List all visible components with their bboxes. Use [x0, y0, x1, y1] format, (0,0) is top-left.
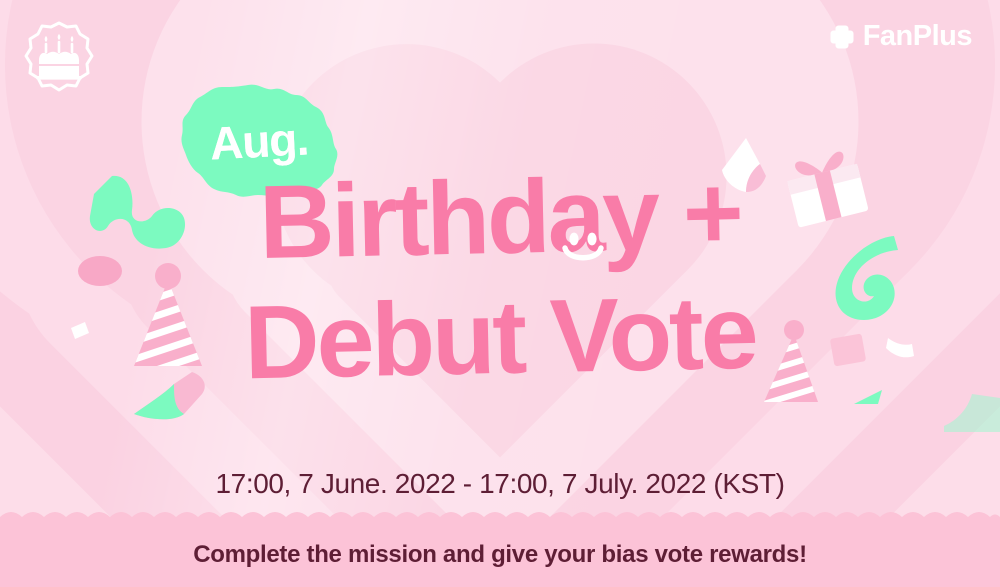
headline-line-2: Debut Vote — [0, 277, 1000, 400]
fanplus-plus-icon — [829, 24, 855, 50]
footer-text: Complete the mission and give your bias … — [193, 541, 807, 569]
headline-line-1: Birthday + — [0, 158, 1000, 281]
cake-icon — [36, 34, 82, 80]
fanplus-logo: FanPlus — [829, 22, 972, 51]
smiley-face-icon — [560, 232, 606, 266]
birthday-debut-vote-banner: FanPlus Aug. Birthday + Debut Vote 17:00… — [0, 0, 1000, 587]
birthday-cake-badge — [22, 20, 96, 94]
fanplus-logo-text: FanPlus — [863, 22, 972, 51]
headline: Birthday + Debut Vote — [0, 168, 1000, 390]
schedule-text: 17:00, 7 June. 2022 - 17:00, 7 July. 202… — [0, 468, 1000, 500]
footer-bar: Complete the mission and give your bias … — [0, 522, 1000, 587]
scalloped-edge — [0, 511, 1000, 523]
